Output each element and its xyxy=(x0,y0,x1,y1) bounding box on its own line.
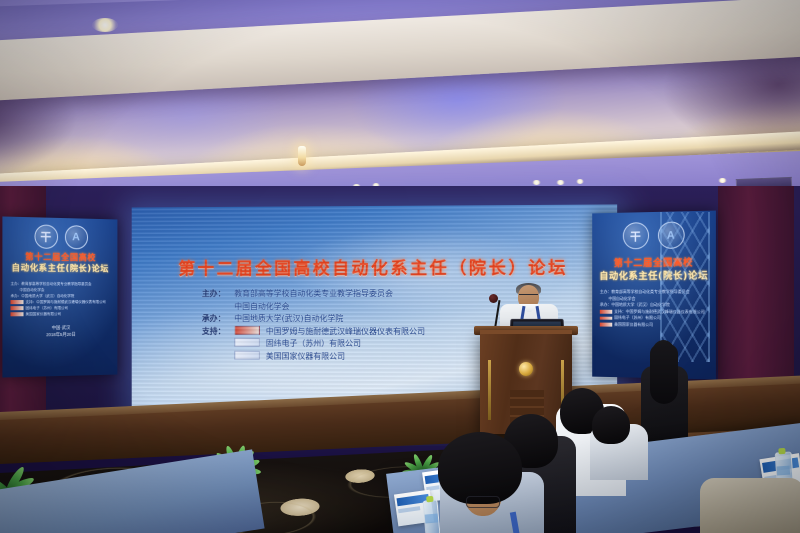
sponsor-logo-icon xyxy=(234,338,260,347)
screen-support-line2: 固纬电子（苏州）有限公司 xyxy=(266,338,361,351)
sponsor-logo-icon xyxy=(10,312,23,316)
screen-organizer-line1: 教育部高等学校自动化类专业教学指导委员会 xyxy=(234,288,393,301)
pendant-lamp-icon xyxy=(298,146,306,166)
right-banner-logos: 干 A xyxy=(592,211,716,250)
screen-organizer-label: 主办： xyxy=(202,288,231,300)
sponsor-logo-icon xyxy=(600,323,612,327)
left-banner-date: 2018年5月20日 xyxy=(2,330,117,338)
right-banner-body-line: 美国国家仪器有限公司 xyxy=(600,322,716,330)
sponsor-logo-icon xyxy=(10,300,23,304)
podium-gold-trim xyxy=(488,360,491,420)
screen-organizer-line2: 中国自动化学会 xyxy=(234,301,289,313)
ceiling-downlight-icon xyxy=(556,180,565,185)
tent-card-text-line xyxy=(398,506,420,513)
sponsor-logo-icon xyxy=(10,306,23,310)
bottle-label xyxy=(777,466,791,476)
screen-body-text: 主办： 教育部高等学校自动化类专业教学指导委员会 中国自动化学会 承办： 中国地… xyxy=(202,288,425,363)
conference-photo-scene: 第十二届全国高校自动化系主任（院长）论坛 主办： 教育部高等学校自动化类专业教学… xyxy=(0,0,800,533)
sponsor-logo-icon xyxy=(600,316,612,320)
ceiling-downlight-icon xyxy=(718,178,727,183)
bottle-cap-icon xyxy=(778,448,785,454)
emblem-logo-icon: 干 xyxy=(622,222,648,249)
sponsor-logo-icon xyxy=(600,310,612,314)
left-banner-title: 第十二届全国高校 自动化系主任(院长)论坛 xyxy=(2,252,117,275)
letter-a-logo-icon: A xyxy=(657,221,684,249)
screen-host-row: 承办： 中国地质大学(武汉)自动化学院 xyxy=(202,313,425,326)
podium-emblem-icon xyxy=(519,362,533,376)
left-banner-logos: 干 A xyxy=(2,216,117,249)
emblem-logo-icon: 干 xyxy=(34,224,58,249)
left-banner-body-line: 美国国家仪器有限公司 xyxy=(10,311,117,318)
standing-person-hair xyxy=(650,344,678,404)
screen-support-line1: 中国罗姆与施耐德武汉峰瑞仪器仪表有限公司 xyxy=(266,325,425,338)
right-banner-title-line1: 第十二届全国高校 xyxy=(592,256,716,270)
screen-host-label: 承办： xyxy=(202,313,231,325)
screen-support-label: 支持： xyxy=(202,325,231,337)
audience-glasses-icon xyxy=(466,496,500,508)
screen-organizer-row: 主办： 教育部高等学校自动化类专业教学指导委员会 xyxy=(202,288,425,301)
ceiling-downlight-icon xyxy=(92,18,118,32)
ceiling-downlight-icon xyxy=(532,180,541,185)
right-banner-body-line: 主办：教育部高等学校自动化类专业教学指导委员会 xyxy=(600,289,716,296)
screen-support-row3: 美国国家仪器有限公司 xyxy=(202,350,425,363)
left-banner-footer: 中国·武汉 2018年5月20日 xyxy=(2,323,117,338)
screen-host-line1: 中国地质大学(武汉)自动化学院 xyxy=(234,313,343,325)
ceiling xyxy=(0,0,800,190)
left-banner-title-line2: 自动化系主任(院长)论坛 xyxy=(2,263,117,275)
screen-support-row2: 固纬电子（苏州）有限公司 xyxy=(202,338,425,351)
left-banner-body: 主办：教育部高等学校自动化类专业教学指导委员会 中国自动化学会 承办：中国地质大… xyxy=(2,281,117,318)
right-banner-body: 主办：教育部高等学校自动化类专业教学指导委员会 中国自动化学会 承办：中国地质大… xyxy=(592,289,716,329)
ceiling-downlight-icon xyxy=(576,179,584,184)
water-bottle xyxy=(422,499,440,533)
screen-support-line3: 美国国家仪器有限公司 xyxy=(266,350,345,363)
speaker-glasses-icon xyxy=(519,294,538,299)
bottle-label xyxy=(425,513,439,523)
letter-a-logo-icon: A xyxy=(64,225,87,249)
screen-organizer-row2: 中国自动化学会 xyxy=(202,300,425,313)
sponsor-logo-icon xyxy=(234,325,260,334)
screen-support-row: 支持： 中国罗姆与施耐德武汉峰瑞仪器仪表有限公司 xyxy=(202,325,425,338)
microphone-icon xyxy=(489,294,498,303)
bottle-cap-icon xyxy=(426,496,433,503)
left-standing-banner: 干 A 第十二届全国高校 自动化系主任(院长)论坛 主办：教育部高等学校自动化类… xyxy=(2,216,117,377)
screen-title: 第十二届全国高校自动化系主任（院长）论坛 xyxy=(132,253,617,279)
audience-shirt xyxy=(700,478,800,533)
audience-hair xyxy=(592,406,630,444)
right-banner-title-line2: 自动化系主任(院长)论坛 xyxy=(592,270,716,284)
audience-hair xyxy=(438,432,522,504)
right-banner-title: 第十二届全国高校 自动化系主任(院长)论坛 xyxy=(592,256,716,283)
sponsor-logo-icon xyxy=(234,350,260,359)
